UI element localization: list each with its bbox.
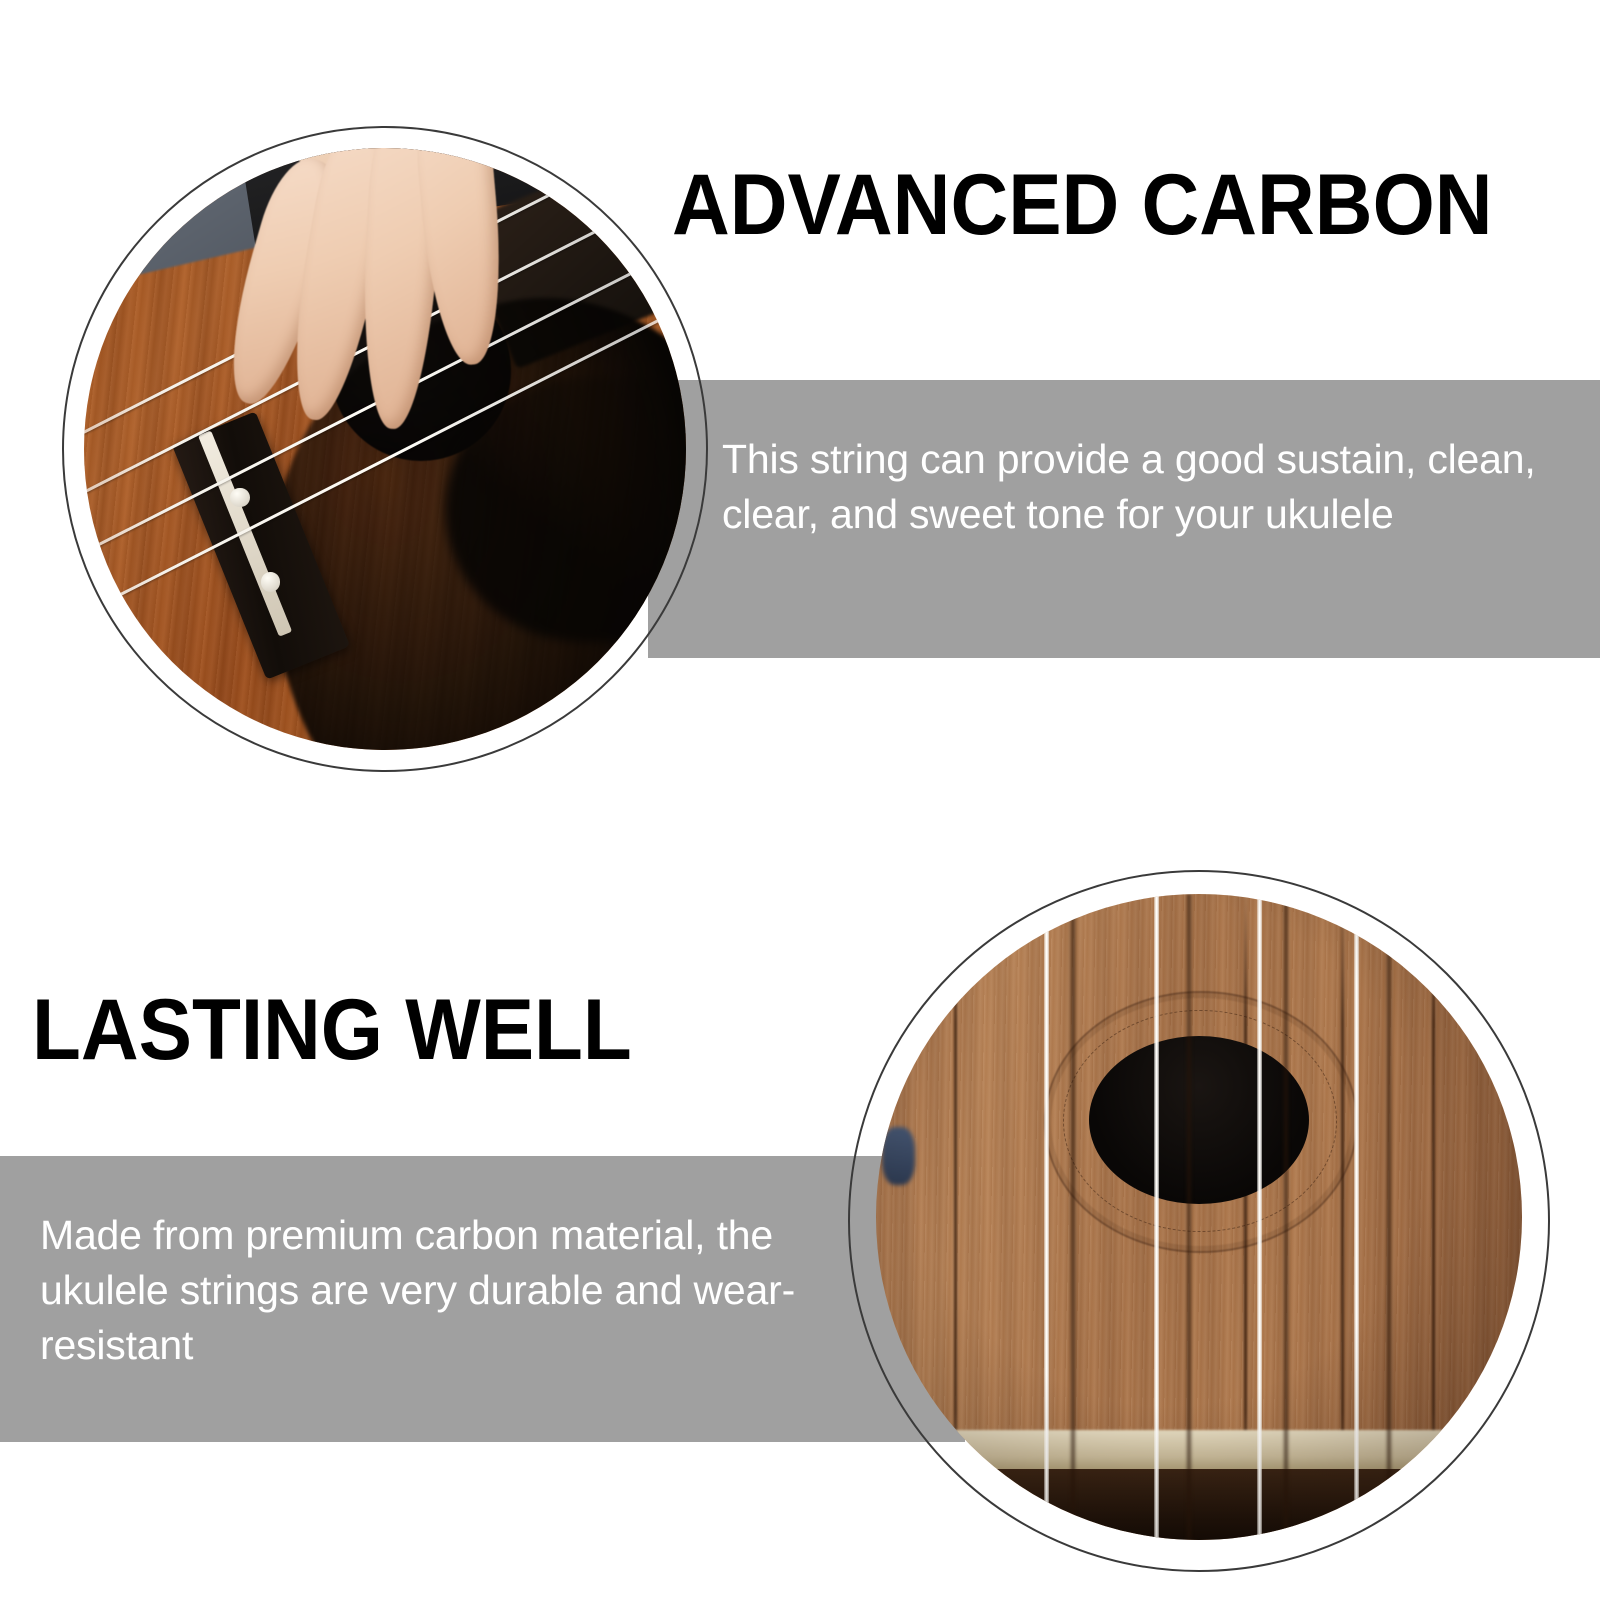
top-section-body-text: This string can provide a good sustain, …	[722, 432, 1542, 542]
players-hand	[241, 148, 530, 437]
bottom-section-heading: LASTING WELL	[32, 985, 632, 1075]
product-feature-poster: ADVANCED CARBON This string can provide …	[0, 0, 1600, 1600]
ukulele-plucking-photo	[84, 148, 686, 750]
top-section-heading: ADVANCED CARBON	[672, 160, 1493, 250]
top-product-photo-frame	[62, 126, 708, 772]
bottom-product-photo-frame	[848, 870, 1550, 1572]
ukulele-soundboard-photo	[876, 894, 1522, 1540]
bridge-pin-dot	[261, 572, 280, 591]
bridge-pin-dot	[230, 488, 249, 507]
photo-vignette	[876, 894, 1522, 1540]
bottom-section-body-text: Made from premium carbon material, the u…	[40, 1208, 880, 1373]
